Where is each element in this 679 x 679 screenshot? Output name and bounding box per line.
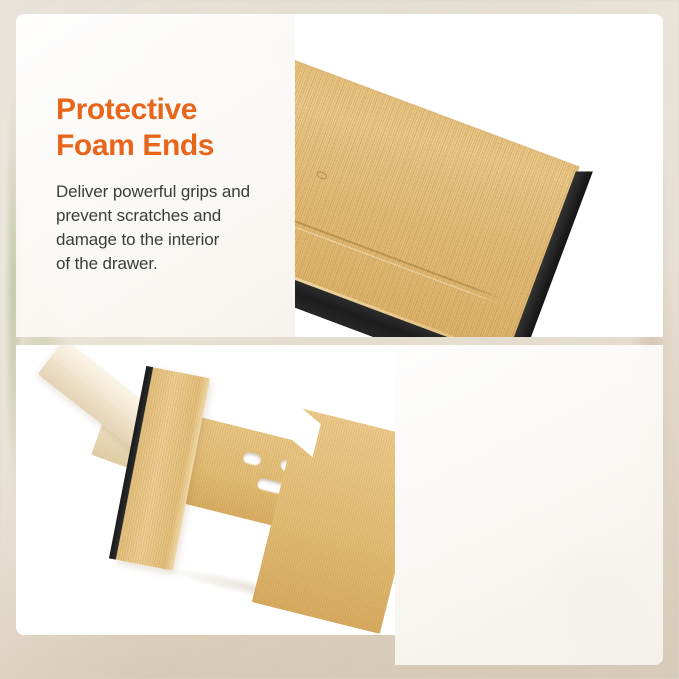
infographic-canvas: Protective Foam Ends Deliver powerful gr… (0, 0, 679, 679)
spring-loaded-assembly (16, 345, 395, 635)
end-panel-notch (290, 406, 320, 458)
feature-body-1-line-4: of the drawer. (56, 252, 250, 276)
product-photo-bamboo-board (295, 14, 663, 337)
feature-heading-1-line-2: Foam Ends (56, 128, 250, 164)
feature-body-1: Deliver powerful grips and prevent scrat… (56, 180, 250, 276)
adjustable-rails-scene (16, 345, 395, 635)
product-photo-adjustable-rails (16, 345, 395, 635)
feature-text-block-1: Protective Foam Ends Deliver powerful gr… (56, 92, 250, 276)
feature-body-1-line-3: damage to the interior (56, 228, 250, 252)
bamboo-board (295, 16, 580, 337)
bamboo-board-scene (295, 14, 663, 337)
feature-body-1-line-1: Deliver powerful grips and (56, 180, 250, 204)
adjustment-slot-1 (242, 451, 262, 466)
feature-card-protective-foam-ends: Protective Foam Ends Deliver powerful gr… (16, 14, 295, 337)
feature-body-1-line-2: prevent scratches and (56, 204, 250, 228)
feature-card-adjustable-spring-loaded: Adjustable Spring-Loaded Fit most drawer… (395, 345, 663, 665)
feature-heading-1: Protective Foam Ends (56, 92, 250, 164)
feature-heading-1-line-1: Protective (56, 92, 250, 128)
